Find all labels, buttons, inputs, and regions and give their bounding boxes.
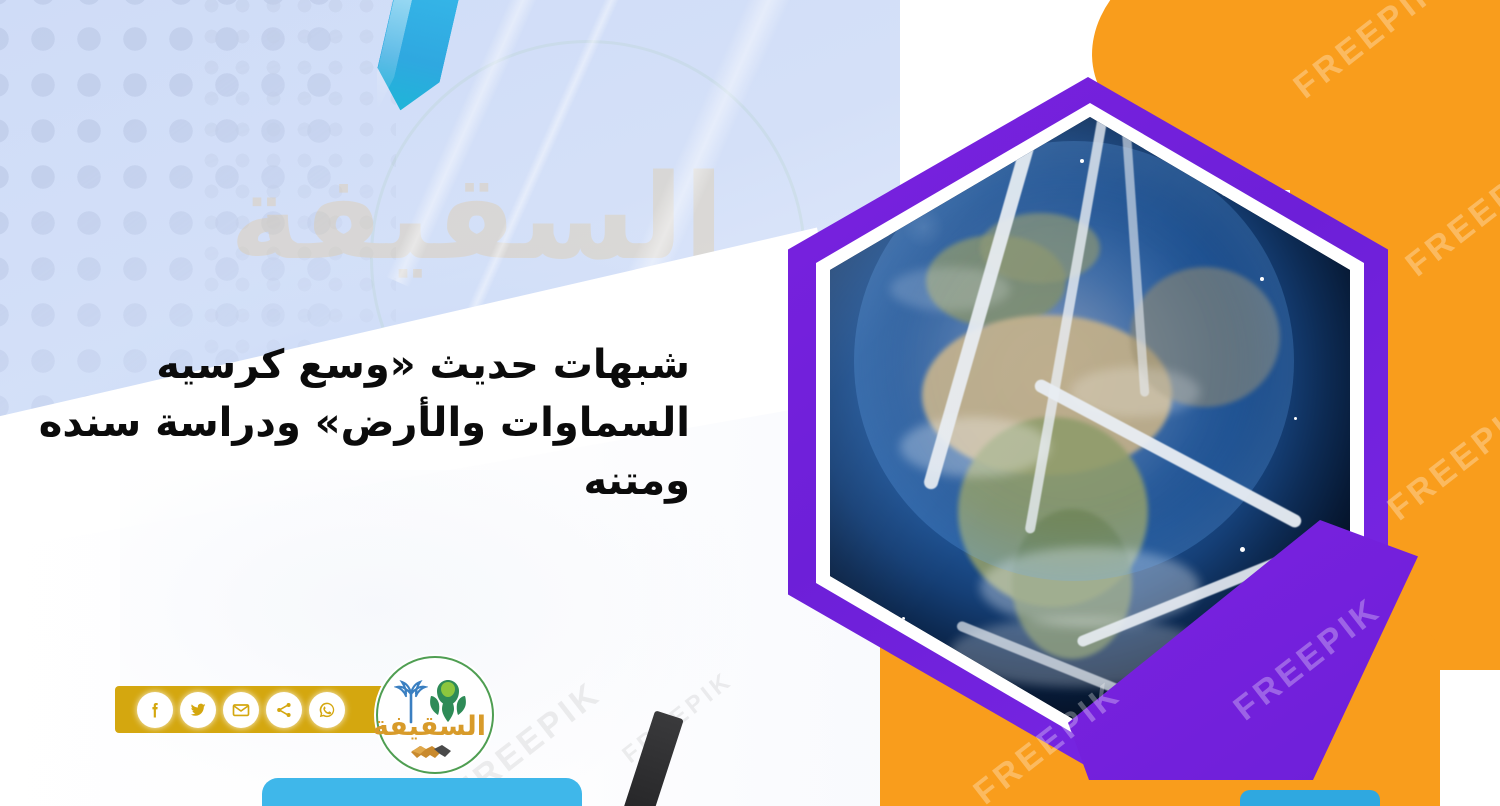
email-icon[interactable] [223,692,259,728]
page-title-line-1: شبهات حديث «وسع كرسيه [30,336,690,394]
page-title-line-2: السماوات والأرض» ودراسة سنده ومتنه [30,394,690,510]
share-icon[interactable] [266,692,302,728]
handshake-icon [408,740,462,762]
facebook-icon[interactable] [137,692,173,728]
poster-canvas: السقيفة 🤝 [0,0,1500,806]
twitter-icon[interactable] [180,692,216,728]
brand-logo-text: السقيفة [384,713,486,740]
blue-sliver-shape [1240,790,1380,806]
whatsapp-icon[interactable] [309,692,345,728]
brand-logo-badge[interactable]: السقيفة [376,656,494,774]
page-title: شبهات حديث «وسع كرسيه السماوات والأرض» و… [30,336,690,510]
cyan-rounded-bar [262,778,582,806]
